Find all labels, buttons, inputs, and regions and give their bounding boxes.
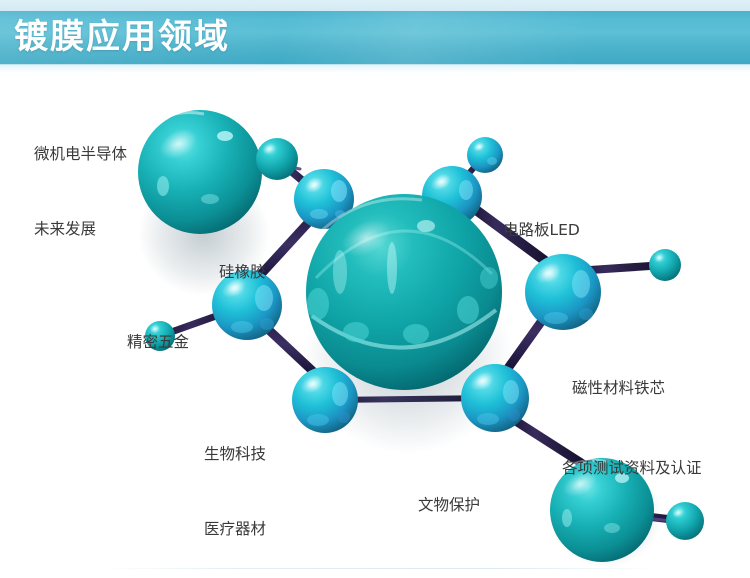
label-line: 精密五金 xyxy=(127,331,189,354)
slide-root: 镀膜应用领域 xyxy=(0,0,750,578)
label-line: 医疗器材 xyxy=(204,517,266,542)
label-line: 硅橡胶 xyxy=(219,261,266,284)
label-line: 生物科技 xyxy=(204,442,266,467)
label-precision-hardware: 精密五金 xyxy=(127,285,189,400)
label-silicone-rubber: 硅橡胶 xyxy=(219,215,266,330)
label-cultural-relic: 文物保护 xyxy=(418,448,480,563)
atom-relic xyxy=(461,364,529,432)
label-line: 磁性材料铁芯 xyxy=(572,377,665,400)
label-mems-semiconductor: 微机电半导体 未来发展 xyxy=(34,92,127,292)
label-testing-certification: 各项测试资料及认证 xyxy=(562,411,702,526)
label-line: 各项测试资料及认证 xyxy=(562,457,702,480)
footer-divider xyxy=(100,568,660,569)
atom-biotech xyxy=(292,367,358,433)
atom-small-upper-left xyxy=(256,138,298,180)
atom-small-magnetic xyxy=(649,249,681,281)
atom-small-pcbled xyxy=(467,137,503,173)
label-line: 微机电半导体 xyxy=(34,142,127,167)
label-line: 未来发展 xyxy=(34,217,127,242)
label-pcb-led: 电路板LED xyxy=(503,173,580,288)
label-line: 文物保护 xyxy=(418,494,480,517)
label-biotech-medical: 生物科技 医疗器材 xyxy=(204,392,266,578)
atom-center xyxy=(306,194,502,390)
page-title: 镀膜应用领域 xyxy=(14,13,230,61)
header-banner: 镀膜应用领域 xyxy=(0,0,750,72)
label-line: 电路板LED xyxy=(503,219,580,242)
